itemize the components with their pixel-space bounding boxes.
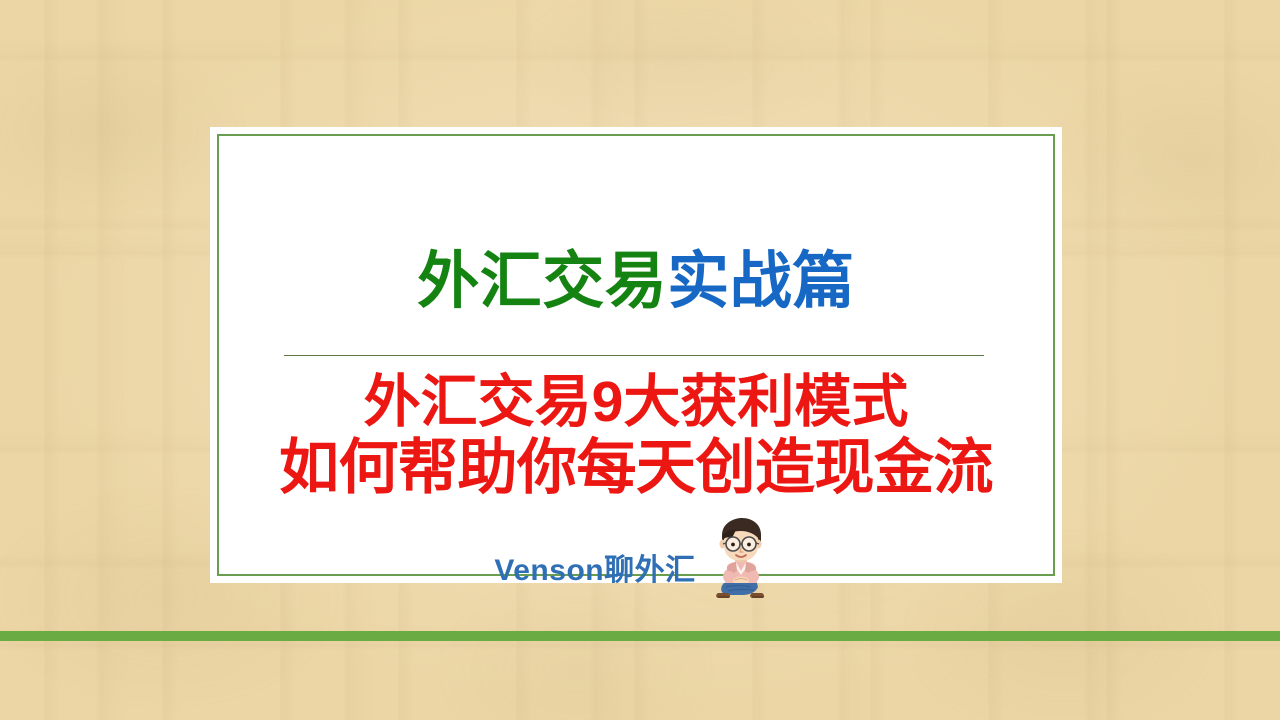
author-signature: Venson聊外汇 xyxy=(494,545,695,601)
signature-row: Venson聊外汇 xyxy=(210,515,1062,601)
page-title-primary: 外汇交易 xyxy=(417,247,667,316)
subtitle-block: 外汇交易9大获利模式 如何帮助你每天创造现金流 xyxy=(210,370,1062,502)
green-accent-bar xyxy=(0,631,1280,641)
title-divider xyxy=(284,355,984,356)
person-avatar-icon xyxy=(702,515,778,601)
page-title: 外汇交易实战篇 xyxy=(210,249,1062,314)
title-card: 外汇交易实战篇 外汇交易9大获利模式 如何帮助你每天创造现金流 Venson聊外… xyxy=(210,127,1062,583)
subtitle-line-2: 如何帮助你每天创造现金流 xyxy=(210,434,1062,502)
presentation-slide: 外汇交易实战篇 外汇交易9大获利模式 如何帮助你每天创造现金流 Venson聊外… xyxy=(0,0,1280,720)
card-content: 外汇交易实战篇 外汇交易9大获利模式 如何帮助你每天创造现金流 Venson聊外… xyxy=(210,127,1062,583)
subtitle-line-1: 外汇交易9大获利模式 xyxy=(210,370,1062,434)
page-title-secondary: 实战篇 xyxy=(667,247,855,316)
